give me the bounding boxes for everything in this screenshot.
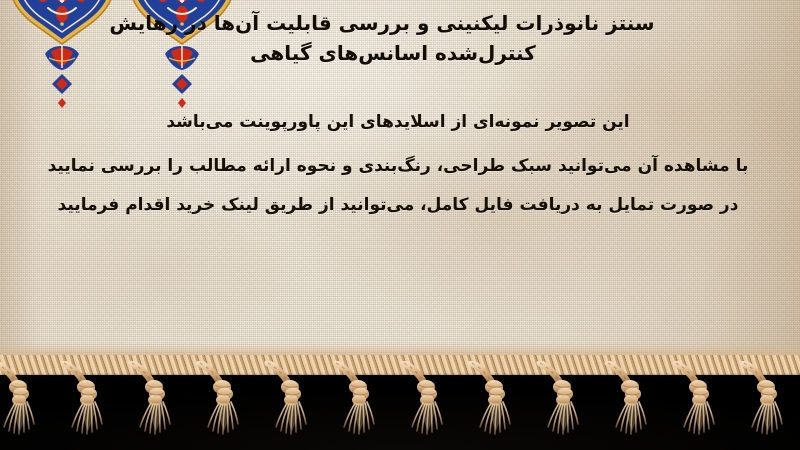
tassel-item <box>64 363 102 434</box>
body-line-2: با مشاهده آن می‌توانید سبک طراحی، رنگ‌بن… <box>14 156 782 177</box>
tassel-item <box>676 363 714 434</box>
tassel-item <box>268 363 306 434</box>
body-line-3: در صورت تمایل به دریافت فایل کامل، می‌تو… <box>14 195 782 216</box>
tassel-item <box>472 363 510 434</box>
tassel-item <box>336 363 374 434</box>
tassel-item <box>744 363 782 434</box>
tassel-item <box>132 363 170 434</box>
slide-canvas: سنتز نانوذرات لیکنینی و بررسی قابلیت آن‌… <box>0 0 800 450</box>
carpet-fringe <box>0 355 800 450</box>
title-line-1: سنتز نانوذرات لیکنینی و بررسی قابلیت آن‌… <box>0 8 786 38</box>
tassel-item <box>608 363 646 434</box>
tassel-item <box>540 363 578 434</box>
body-line-1: این تصویر نمونه‌ای از اسلایدهای این پاور… <box>14 112 782 133</box>
slide-body: این تصویر نمونه‌ای از اسلایدهای این پاور… <box>14 112 782 216</box>
tassels-svg <box>0 361 800 450</box>
tassel-item <box>0 363 34 434</box>
tassel-item <box>404 363 442 434</box>
tassel-item <box>200 363 238 434</box>
text-layer: سنتز نانوذرات لیکنینی و بررسی قابلیت آن‌… <box>0 0 800 378</box>
title-line-2: کنترل‌شده اسانس‌های گیاهی <box>0 38 786 68</box>
fringe-tassel-group <box>0 361 800 450</box>
slide-title: سنتز نانوذرات لیکنینی و بررسی قابلیت آن‌… <box>0 8 786 68</box>
